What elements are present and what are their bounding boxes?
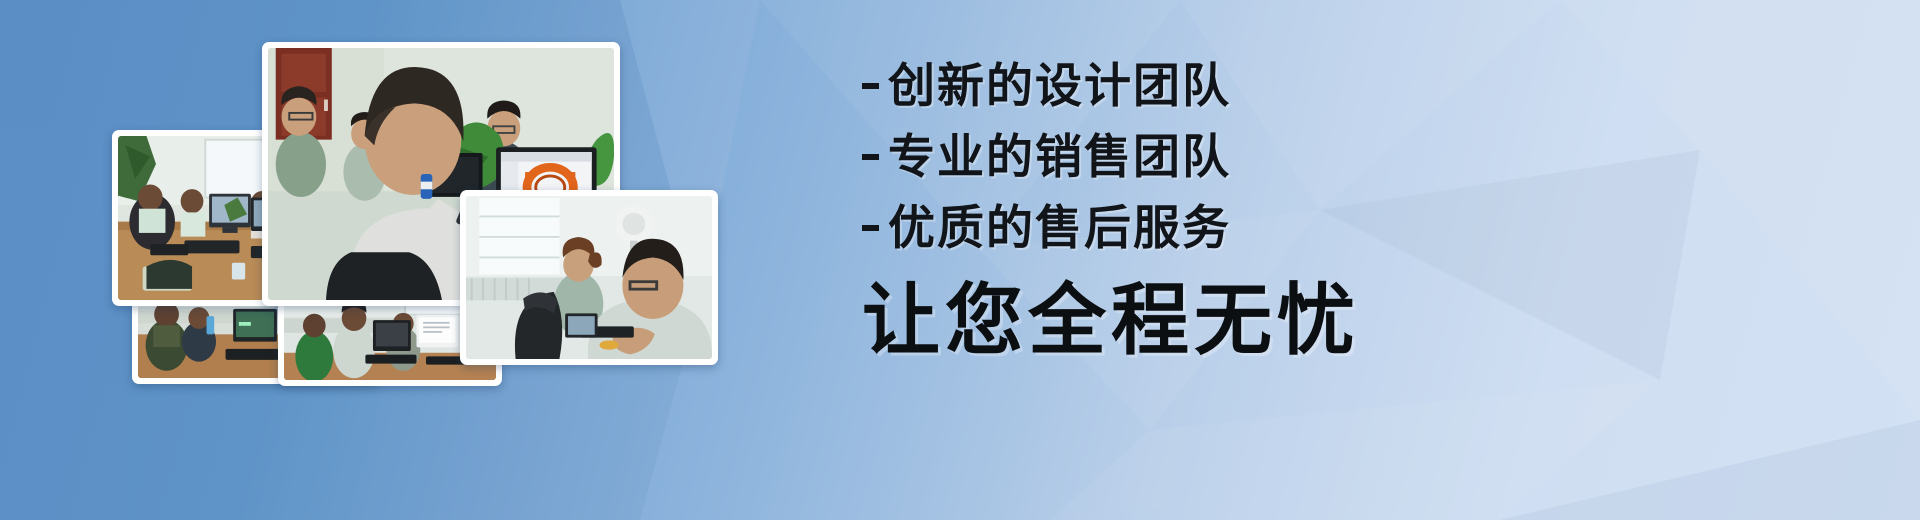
promo-banner: ■■■: [0, 0, 1920, 520]
photo-designer-seated-image: [466, 196, 712, 359]
feature-bullet-2: 专业的销售团队: [862, 133, 1882, 180]
feature-bullet-1: 创新的设计团队: [862, 62, 1882, 109]
banner-copy: 创新的设计团队 专业的销售团队 优质的售后服务 让您全程无忧: [862, 62, 1882, 462]
feature-bullet-3-label: 优质的售后服务: [888, 204, 1231, 251]
photo-frame-inner: [466, 196, 712, 359]
svg-text:■■■: ■■■: [239, 319, 251, 327]
banner-headline: 让您全程无忧: [862, 281, 1882, 359]
feature-bullet-2-label: 专业的销售团队: [888, 133, 1231, 180]
photo-collage: ■■■: [0, 0, 760, 520]
feature-bullet-1-label: 创新的设计团队: [888, 62, 1231, 109]
feature-bullet-list: 创新的设计团队 专业的销售团队 优质的售后服务: [862, 62, 1882, 251]
feature-bullet-3: 优质的售后服务: [862, 204, 1882, 251]
dash-marker-icon: [862, 225, 879, 231]
dash-marker-icon: [862, 154, 879, 160]
dash-marker-icon: [862, 83, 879, 89]
photo-designer-seated: [460, 190, 718, 365]
